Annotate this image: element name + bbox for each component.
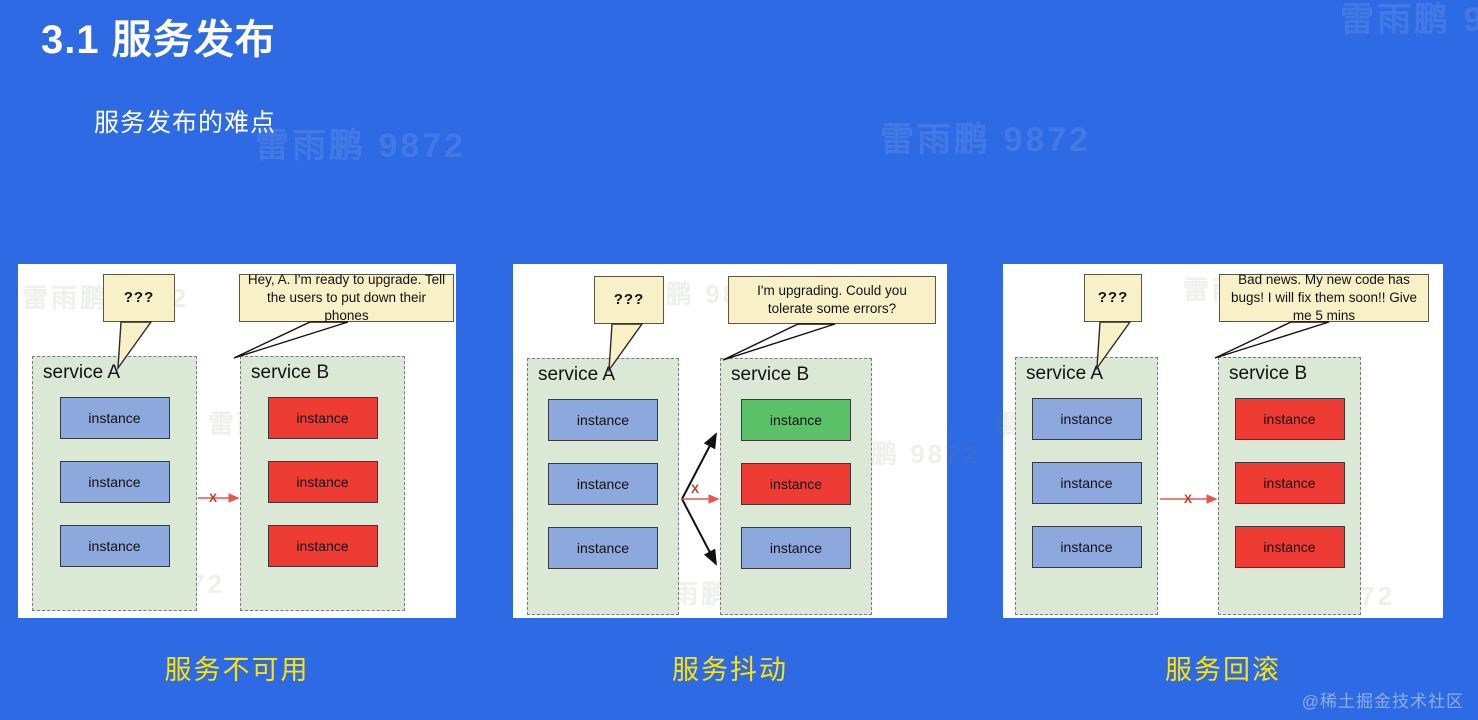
instance-box[interactable]: instance (741, 399, 851, 441)
instance-box[interactable]: instance (1032, 526, 1142, 568)
instance-box[interactable]: instance (60, 461, 170, 503)
traffic-arrow-bottom (682, 499, 716, 564)
panel-caption-service-unavailable: 服务不可用 (18, 648, 456, 687)
service-a-instances: instance instance instance (1016, 398, 1157, 568)
speech-bubble-service-a: ??? (594, 276, 664, 324)
page-subtitle: 服务发布的难点 (94, 103, 276, 139)
instance-box[interactable]: instance (548, 527, 658, 569)
page-title: 3.1 服务发布 (41, 14, 276, 66)
service-b-container: service B instance instance instance (1218, 357, 1361, 615)
instance-box[interactable]: instance (268, 397, 378, 439)
panel-service-unavailable: 雷雨鹏 9872 雷雨鹏 9872 雷雨鹏 9872 ??? Hey, A. I… (18, 264, 456, 618)
instance-box[interactable]: instance (548, 463, 658, 505)
diagram-panels: 雷雨鹏 9872 雷雨鹏 9872 雷雨鹏 9872 ??? Hey, A. I… (0, 264, 1478, 620)
instance-box[interactable]: instance (60, 397, 170, 439)
service-b-instances: instance instance instance (241, 397, 404, 567)
instance-box[interactable]: instance (741, 527, 851, 569)
instance-box[interactable]: instance (1235, 398, 1345, 440)
speech-bubble-service-b: Bad news. My new code has bugs! I will f… (1219, 274, 1429, 322)
arrow-x-marker-icon: X (691, 482, 699, 496)
instance-box[interactable]: instance (741, 463, 851, 505)
service-b-instances: instance instance instance (721, 399, 871, 569)
service-b-label: service B (731, 364, 809, 386)
arrow-x-marker-icon: X (1184, 492, 1192, 506)
panel-caption-service-jitter: 服务抖动 (513, 648, 947, 687)
service-a-label: service A (43, 362, 120, 384)
ghost-watermark: 雷雨鹏 9872 (880, 112, 1091, 161)
panel-caption-service-rollback: 服务回滚 (1003, 648, 1443, 687)
instance-box[interactable]: instance (548, 399, 658, 441)
service-b-label: service B (1229, 363, 1307, 385)
instance-box[interactable]: instance (1032, 398, 1142, 440)
traffic-arrow-top (682, 434, 716, 499)
service-a-label: service A (538, 364, 615, 386)
panel-service-rollback: 雷雨鹏 9872 雷雨鹏 9872 雷雨鹏 9872 ??? Bad news.… (1003, 264, 1443, 618)
service-a-container: service A instance instance instance (1015, 357, 1158, 615)
bubble-tail-b-icon (1215, 322, 1329, 358)
ghost-watermark: 雷雨鹏 9872 (255, 118, 466, 167)
ghost-watermark: 雷雨鹏 9872 (1340, 0, 1478, 41)
service-b-label: service B (251, 362, 329, 384)
bubble-tail-b-icon (723, 324, 835, 360)
speech-bubble-service-b: I'm upgrading. Could you tolerate some e… (728, 276, 936, 324)
instance-box[interactable]: instance (1032, 462, 1142, 504)
service-b-instances: instance instance instance (1219, 398, 1360, 568)
speech-bubble-service-b: Hey, A. I'm ready to upgrade. Tell the u… (239, 274, 454, 322)
panel-service-jitter: 雷雨鹏 9872 雷雨鹏 9872 雷雨鹏 9872 ??? I'm upgra… (513, 264, 947, 618)
speech-bubble-service-a: ??? (1084, 274, 1142, 322)
instance-box[interactable]: instance (60, 525, 170, 567)
service-a-container: service A instance instance instance (32, 356, 197, 611)
service-a-label: service A (1026, 363, 1103, 385)
speech-bubble-service-a: ??? (103, 274, 175, 322)
site-watermark: @稀土掘金技术社区 (1302, 687, 1464, 712)
instance-box[interactable]: instance (268, 461, 378, 503)
arrow-x-marker-icon: X (209, 491, 217, 505)
service-a-container: service A instance instance instance (527, 358, 679, 615)
service-a-instances: instance instance instance (528, 399, 678, 569)
instance-box[interactable]: instance (1235, 526, 1345, 568)
service-a-instances: instance instance instance (33, 397, 196, 567)
service-b-container: service B instance instance instance (240, 356, 405, 611)
instance-box[interactable]: instance (1235, 462, 1345, 504)
bubble-tail-b-icon (234, 322, 348, 358)
instance-box[interactable]: instance (268, 525, 378, 567)
service-b-container: service B instance instance instance (720, 358, 872, 615)
